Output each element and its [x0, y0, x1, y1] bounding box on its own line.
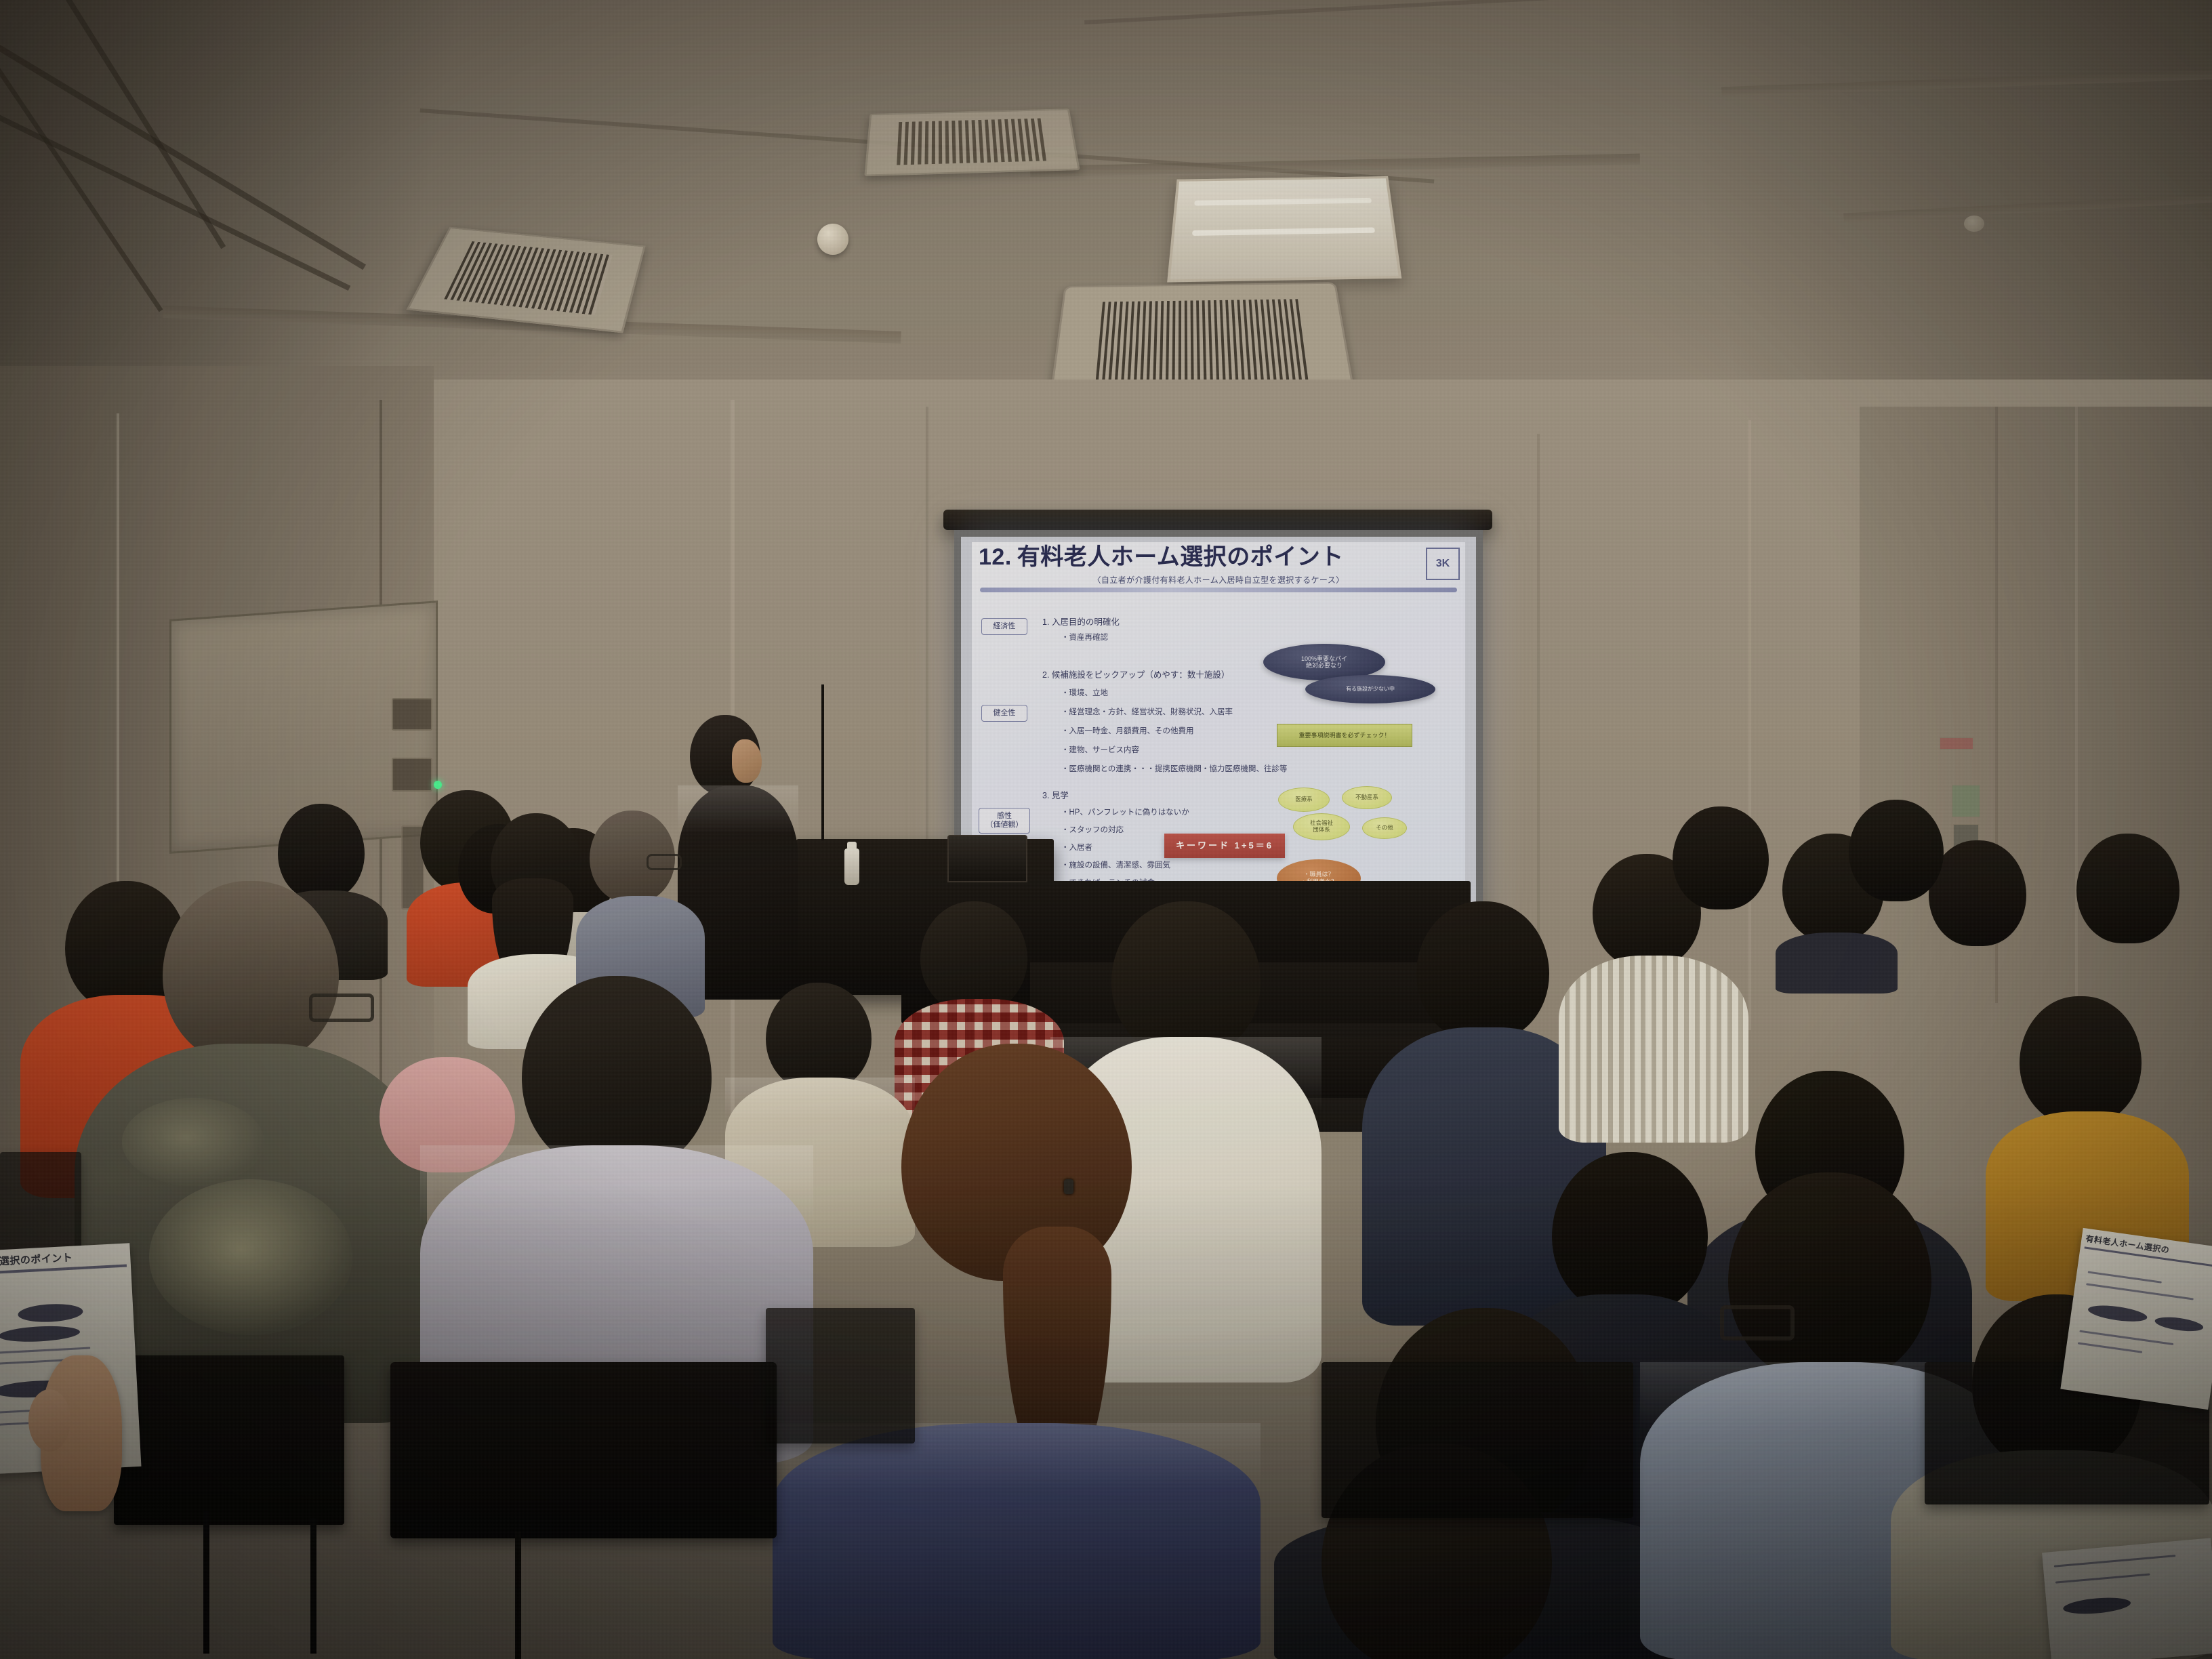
thumb	[28, 1389, 70, 1452]
handout-line	[2055, 1573, 2150, 1583]
handout-right-lower[interactable]	[2042, 1538, 2212, 1659]
chair-leg	[515, 1532, 521, 1659]
slide-bullet: ・スタッフの対応	[1061, 825, 1124, 836]
audience-member	[1667, 806, 1782, 962]
presenter-face	[732, 739, 762, 783]
water-bottle	[844, 848, 859, 885]
slide-keyword-box: キーワード 1+5＝6	[1164, 834, 1285, 858]
slide-bullet: ・経営理念・方針、経営状況、財務状況、入居率	[1061, 708, 1233, 718]
sprinkler-head-icon	[817, 224, 848, 255]
section-number: 1.	[1042, 617, 1049, 627]
slide-bullet: ・施設の設備、清潔感、雰囲気	[1061, 861, 1170, 872]
handout-line	[2078, 1342, 2142, 1353]
slide-callout-green: 重要事項説明書を必ずチェック！	[1277, 724, 1412, 747]
wall-notice	[1940, 737, 1973, 750]
projection-screen-case	[943, 510, 1492, 530]
slide-callout-yellow: 不動産系	[1342, 786, 1392, 809]
slide-callout-yellow: その他	[1362, 817, 1407, 839]
head	[2076, 834, 2179, 943]
head	[1849, 800, 1944, 901]
shirt-graphic	[122, 1098, 264, 1186]
laptop[interactable]	[947, 835, 1027, 882]
handout-ellipse	[2154, 1315, 2204, 1334]
smoke-detector-icon	[1964, 216, 1984, 232]
slide-callout-dark: 有る施設が少ない中	[1305, 675, 1435, 703]
slide-bullet: ・資産再確認	[1061, 633, 1108, 644]
slide-bullet: ・HP、パンフレットに偽りはないか	[1061, 808, 1189, 819]
handout-right[interactable]: 有料老人ホーム選択の	[2060, 1228, 2212, 1410]
handout-line	[2086, 1283, 2194, 1300]
photo-scene: 3K 12. 有料老人ホーム選択のポイント 〈自立者が介護付有料老人ホーム入居時…	[0, 0, 2212, 1659]
section-number: 2.	[1042, 670, 1049, 680]
head	[2020, 996, 2142, 1125]
handout-ellipse	[2087, 1303, 2148, 1324]
audience-member	[2074, 834, 2196, 996]
slide-section-heading: 3. 見学	[1042, 790, 1069, 802]
handout-line	[2079, 1330, 2173, 1345]
handout-line	[0, 1347, 90, 1354]
chair-back	[766, 1308, 915, 1443]
slide-tag-sensibility: 感性 （価値観）	[979, 808, 1030, 834]
slide-bullet: ・入居一時金、月額費用、その他費用	[1061, 726, 1194, 737]
highlight	[420, 1145, 813, 1294]
slide-section-heading: 1. 入居目的の明確化	[1042, 617, 1120, 628]
ceiling-air-vent	[864, 108, 1080, 176]
head	[522, 976, 712, 1172]
glasses-icon	[1720, 1305, 1795, 1340]
handout-ellipse	[18, 1303, 83, 1324]
chair-back	[390, 1362, 777, 1538]
microphone-stand	[821, 684, 824, 840]
title-divider	[980, 588, 1457, 592]
status-led-indicator	[434, 781, 442, 789]
head	[920, 901, 1027, 1012]
section-heading-text: 見学	[1052, 791, 1069, 800]
head	[163, 881, 339, 1064]
laptop-lid	[947, 835, 1027, 882]
section-heading-text: 入居目的の明確化	[1052, 617, 1120, 627]
hair-clip	[1064, 1179, 1073, 1194]
glasses-icon	[309, 994, 374, 1022]
slide-bullet: ・環境、立地	[1061, 689, 1108, 699]
slide-title: 有料老人ホーム選択のポイント	[1017, 542, 1344, 573]
head	[1673, 806, 1769, 909]
chair-leg	[203, 1511, 209, 1654]
handout-line	[2088, 1271, 2162, 1283]
slide-number: 12.	[979, 542, 1012, 573]
handout-line	[2054, 1555, 2176, 1568]
slide-bullet: ・建物、サービス内容	[1061, 745, 1139, 756]
slide-subtitle: 〈自立者が介護付有料老人ホーム入居時自立型を選択するケース〉	[972, 575, 1465, 586]
chair-back	[114, 1355, 344, 1525]
handout-ellipse	[0, 1324, 81, 1343]
chair-back	[1322, 1362, 1633, 1518]
bottle-cap	[847, 842, 857, 850]
slide-logo: 3K	[1426, 548, 1460, 580]
ceiling-light-panel	[1167, 176, 1401, 283]
slide-tag-economy: 経済性	[981, 618, 1027, 635]
handout-ellipse	[2062, 1595, 2131, 1616]
slide-bullet: ・医療機関との連携・・・提携医療機関・協力医療機関、往診等	[1061, 764, 1287, 775]
section-number: 3.	[1042, 791, 1049, 800]
slide-section-heading: 2. 候補施設をピックアップ（めやす：数十施設）	[1042, 670, 1229, 681]
slide-bullet: ・入居者	[1061, 843, 1092, 854]
audience-member	[1843, 800, 1959, 949]
wall-control-panel[interactable]	[392, 758, 432, 792]
shirt-graphic	[149, 1179, 352, 1335]
head	[1416, 901, 1549, 1041]
slide-callout-yellow: 社会福祉 団体系	[1293, 813, 1350, 840]
head	[1111, 901, 1261, 1057]
wall-control-panel[interactable]	[392, 698, 432, 731]
slide-tag-soundness: 健全性	[981, 705, 1027, 722]
glasses-icon	[647, 854, 682, 870]
slide-callout-yellow: 医療系	[1278, 787, 1330, 812]
section-heading-text: 候補施設をピックアップ（めやす：数十施設）	[1052, 670, 1230, 680]
chair-leg	[310, 1518, 316, 1654]
